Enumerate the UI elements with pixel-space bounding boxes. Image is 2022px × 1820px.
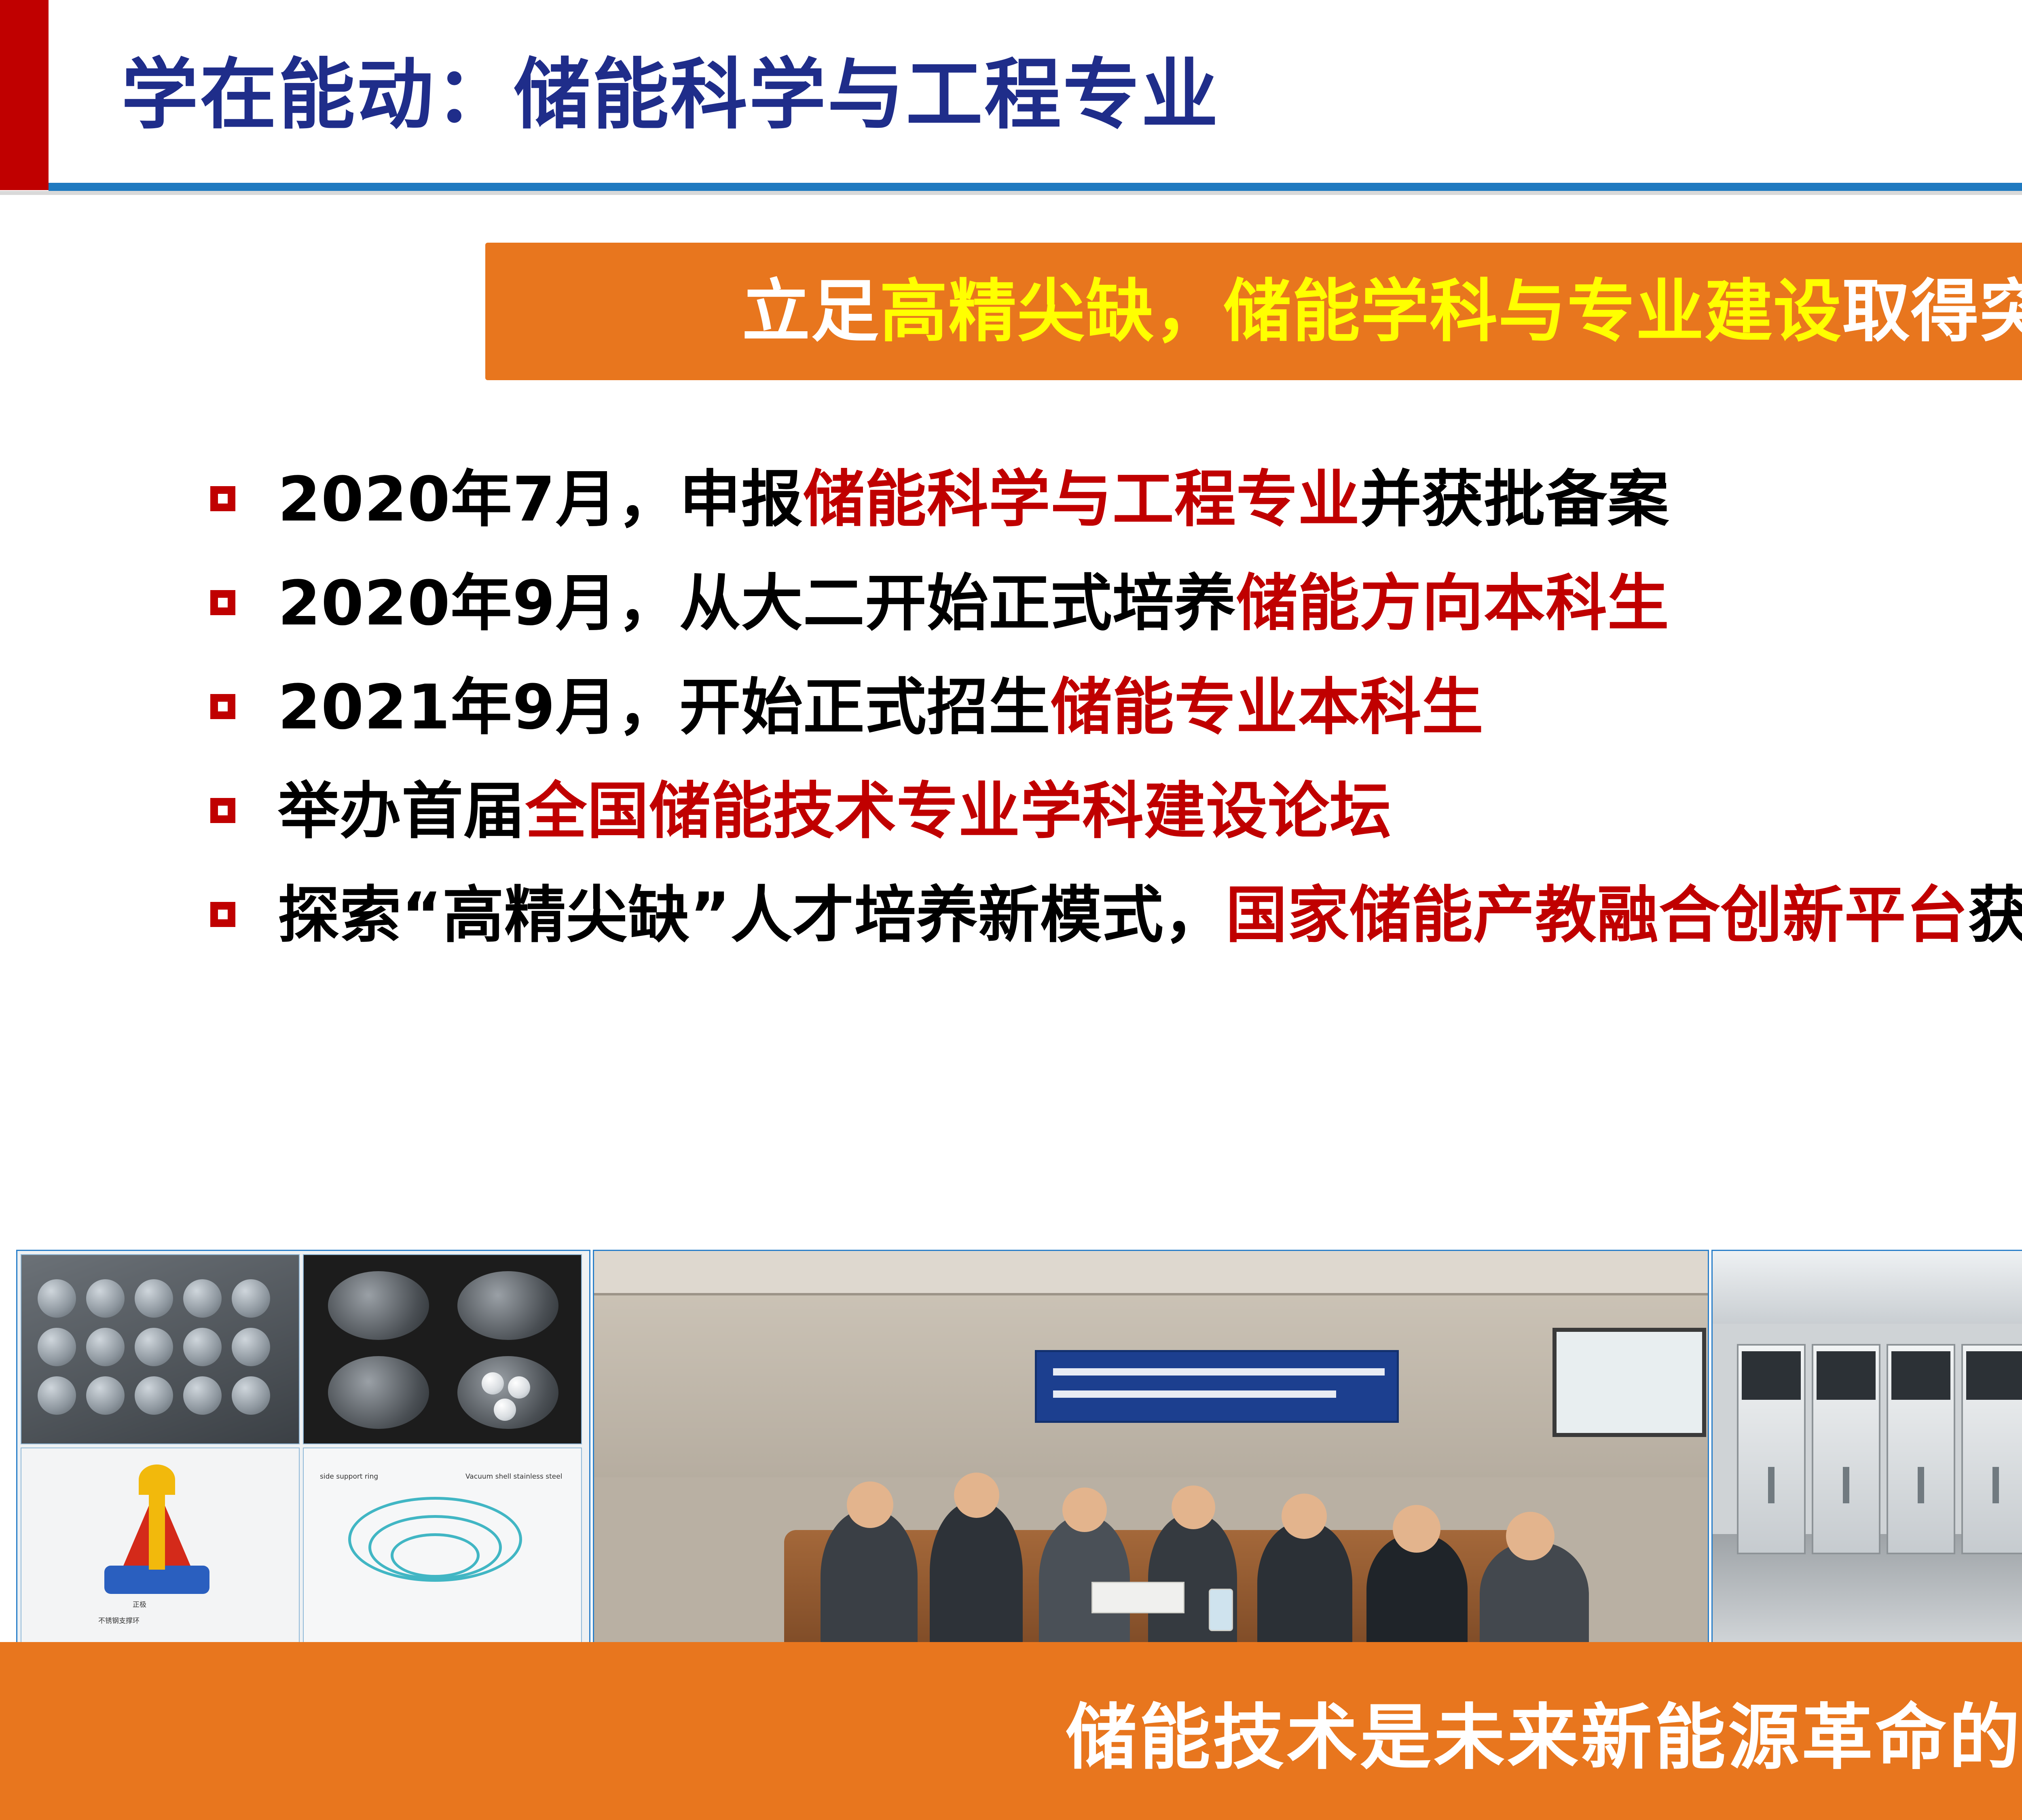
bullet-red: 储能科学与工程专业 — [803, 463, 1360, 535]
bullet-text: 举办首届全国储能技术专业学科建设论坛 — [278, 773, 1392, 850]
photo-battery-materials: 正极 不锈钢支撑环 side support ring Vacuum shell… — [16, 1250, 590, 1654]
bullet-square-icon — [210, 694, 235, 719]
bullet-red: 国家储能产教融合创新平台 — [1226, 879, 1968, 951]
header-divider-blue — [49, 183, 2022, 191]
photo-cell-array — [21, 1254, 300, 1444]
photo-seminar-room — [593, 1250, 1709, 1654]
headline-part-2: 高精尖缺，储能学科与专业建设 — [880, 272, 1842, 351]
headline-part-3: 取得突破性进展 — [1842, 272, 2022, 351]
bullet-square-icon — [210, 798, 235, 823]
bottom-banner-text: 储能技术是未来新能源革命的核心 — [1066, 1680, 2022, 1783]
photo-shell-rings: side support ring Vacuum shell stainless… — [303, 1448, 582, 1650]
slide-header: 学在能动：储能科学与工程专业 华北电力大学 NORTH CHINA ELECTR… — [0, 0, 2022, 190]
bullet-list: 2020年7月，申报储能科学与工程专业并获批备案 2020年9月，从大二开始正式… — [210, 461, 2022, 981]
bullet-black-1: 2020年9月，从大二开始正式培养 — [278, 567, 1236, 639]
bullet-square-icon — [210, 902, 235, 927]
header-red-accent-bar — [0, 0, 49, 190]
bullet-text: 探索“高精尖缺”人才培养新模式，国家储能产教融合创新平台获批立项 — [278, 877, 2022, 954]
bullet-red: 储能专业本科生 — [1051, 671, 1484, 743]
bullet-square-icon — [210, 486, 235, 511]
photo-caption-left: 正极 — [133, 1599, 146, 1609]
bullet-square-icon — [210, 590, 235, 615]
bullet-black-2: 并获批备案 — [1360, 463, 1669, 535]
headline-part-1: 立足 — [742, 272, 880, 351]
photo-wall-screen — [1552, 1328, 1706, 1437]
headline-text: 立足高精尖缺，储能学科与专业建设取得突破性进展 — [742, 277, 2022, 345]
bottom-banner: 储能技术是未来新能源革命的核心 — [0, 1642, 2022, 1820]
photo-room-banner — [1035, 1350, 1399, 1423]
photo-caption-mid: 不锈钢支撑环 — [98, 1615, 140, 1625]
list-item: 2020年7月，申报储能科学与工程专业并获批备案 — [210, 461, 2022, 542]
list-item: 探索“高精尖缺”人才培养新模式，国家储能产教融合创新平台获批立项 — [210, 877, 2022, 958]
list-item: 2020年9月，从大二开始正式培养储能方向本科生 — [210, 565, 2022, 646]
bullet-black-1: 2021年9月，开始正式招生 — [278, 671, 1051, 743]
header-divider-gray — [0, 191, 2022, 195]
photo-lab-ceiling — [1713, 1251, 2022, 1324]
list-item: 2021年9月，开始正式招生储能专业本科生 — [210, 669, 2022, 750]
bullet-black-1: 2020年7月，申报 — [278, 463, 803, 535]
photo-caption-side: side support ring — [320, 1473, 378, 1481]
headline-banner: 立足高精尖缺，储能学科与专业建设取得突破性进展 — [485, 243, 2022, 380]
photo-caption-right: Vacuum shell stainless steel — [465, 1473, 562, 1481]
photo-electrode-discs — [303, 1254, 582, 1444]
photo-strip: 正极 不锈钢支撑环 side support ring Vacuum shell… — [16, 1250, 2022, 1654]
bullet-black-1: 探索“高精尖缺”人才培养新模式， — [278, 879, 1226, 951]
bullet-text: 2021年9月，开始正式招生储能专业本科生 — [278, 669, 1484, 746]
photo-laboratory — [1711, 1250, 2022, 1654]
bullet-red: 全国储能技术专业学科建设论坛 — [525, 775, 1392, 847]
list-item: 举办首届全国储能技术专业学科建设论坛 — [210, 773, 2022, 854]
bullet-text: 2020年7月，申报储能科学与工程专业并获批备案 — [278, 461, 1669, 538]
bullet-black-1: 举办首届 — [278, 775, 525, 847]
bullet-text: 2020年9月，从大二开始正式培养储能方向本科生 — [278, 565, 1669, 642]
bullet-red: 储能方向本科生 — [1236, 567, 1669, 639]
photo-room-ceiling — [594, 1251, 1709, 1295]
photo-cad-cutaway: 正极 不锈钢支撑环 — [21, 1448, 300, 1650]
bullet-black-2: 获批立项 — [1968, 879, 2022, 951]
page-title: 学在能动：储能科学与工程专业 — [121, 32, 1220, 144]
